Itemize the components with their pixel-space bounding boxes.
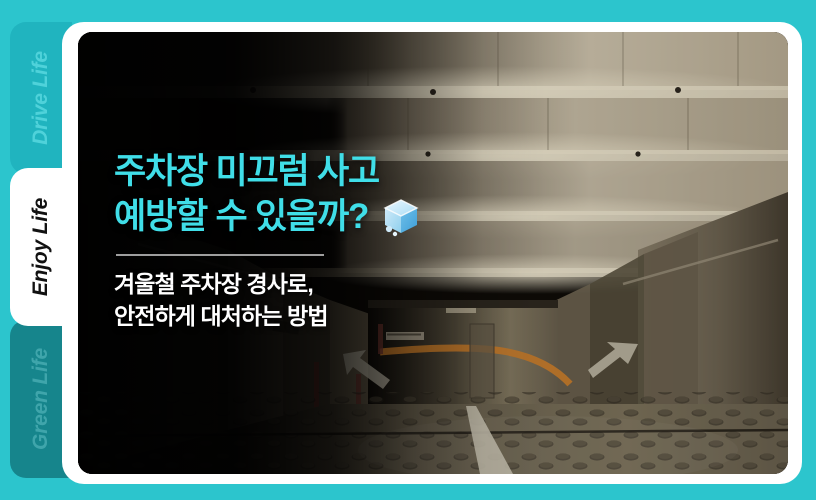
- ice-cube-icon: [380, 196, 422, 238]
- text-divider: [116, 254, 324, 256]
- headline: 주차장 미끄럼 사고 예방할 수 있을까?: [114, 150, 514, 240]
- headline-line-1-row: 주차장 미끄럼 사고: [114, 150, 514, 195]
- content-card: 주차장 미끄럼 사고 예방할 수 있을까?: [62, 22, 802, 484]
- subtitle-line-2: 안전하게 대처하는 방법: [114, 300, 514, 333]
- subtitle-line-1: 겨울철 주차장 경사로,: [114, 268, 514, 301]
- sidebar-tab-drive-life-label: Drive Life: [29, 51, 53, 145]
- headline-line-1: 주차장 미끄럼 사고: [114, 150, 379, 195]
- headline-line-2-row: 예방할 수 있을까?: [114, 195, 514, 240]
- sidebar-tab-green-life-label: Green Life: [29, 348, 53, 450]
- subtitle: 겨울철 주차장 경사로, 안전하게 대처하는 방법: [114, 268, 514, 333]
- headline-line-2: 예방할 수 있을까?: [114, 195, 368, 240]
- sidebar-tab-enjoy-life-label: Enjoy Life: [29, 198, 53, 296]
- hero-text-block: 주차장 미끄럼 사고 예방할 수 있을까?: [114, 150, 514, 333]
